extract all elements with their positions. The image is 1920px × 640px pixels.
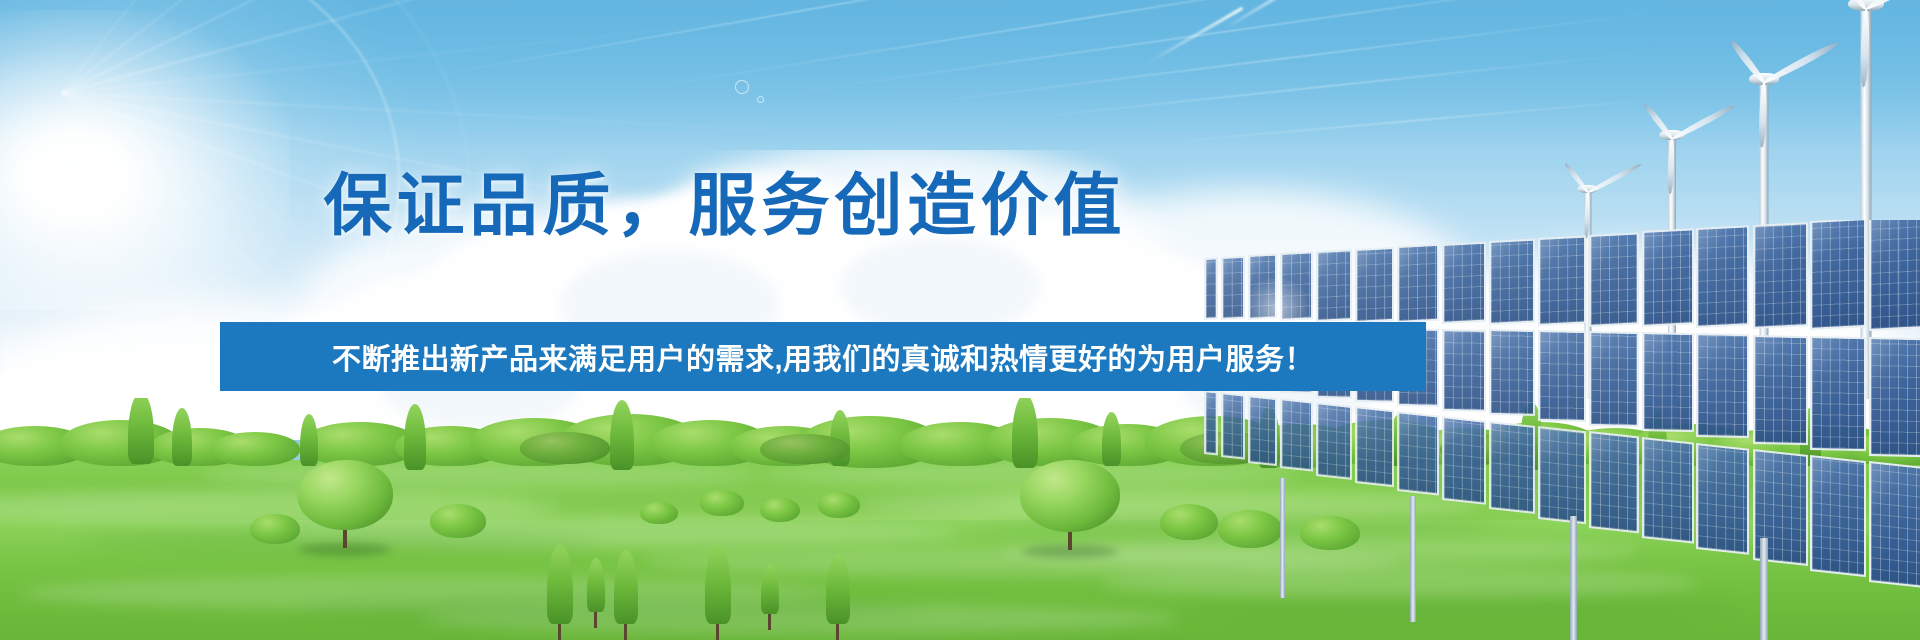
solar-panel <box>1442 329 1486 412</box>
solar-panel <box>1696 333 1749 438</box>
tree-trunk <box>1068 532 1072 550</box>
solar-panel <box>1489 421 1535 514</box>
shrub <box>818 492 860 518</box>
solar-panel <box>1589 431 1639 533</box>
solar-panel <box>1248 395 1277 466</box>
solar-panel <box>1280 398 1313 472</box>
subtitle-bar: 不断推出新产品来满足用户的需求,用我们的真诚和热情更好的为用户服务！ <box>220 322 1426 391</box>
lens-flare-dot-icon <box>735 80 749 94</box>
turbine-blade <box>1642 102 1674 141</box>
solar-panel <box>1489 238 1535 324</box>
cypress-tree <box>300 414 318 466</box>
solar-panel <box>1204 257 1218 320</box>
lens-flare-dot-icon <box>757 96 764 103</box>
solar-panel <box>1355 406 1394 487</box>
cypress-tree <box>610 400 634 470</box>
solar-panel <box>1810 455 1866 577</box>
tree-trunk <box>768 614 771 630</box>
tree-trunk <box>594 612 597 628</box>
solar-panel <box>1397 411 1439 496</box>
solar-panel <box>1589 232 1639 326</box>
shrub <box>250 514 300 544</box>
solar-panel <box>1442 241 1486 324</box>
horizon-bush <box>760 434 850 464</box>
solar-panel <box>1316 249 1352 322</box>
solar-support-leg <box>1410 496 1416 622</box>
solar-panel <box>1696 225 1749 328</box>
solar-support-leg <box>1280 478 1285 598</box>
solar-panel <box>1397 244 1439 323</box>
horizon-bush <box>210 432 300 466</box>
solar-panel <box>1642 437 1694 544</box>
cypress-tree <box>128 398 154 464</box>
cypress-tree <box>1102 412 1121 466</box>
tree-trunk <box>343 530 347 548</box>
solar-panel <box>1442 416 1486 505</box>
shrub <box>640 502 678 524</box>
solar-panel <box>1810 336 1866 451</box>
tree-trunk <box>624 624 627 640</box>
solar-panel <box>1810 220 1866 330</box>
solar-panel <box>1589 331 1639 427</box>
subtitle-text: 不断推出新产品来满足用户的需求,用我们的真诚和热情更好的为用户服务！ <box>332 336 1314 378</box>
solar-support-leg <box>1760 538 1768 640</box>
tree-trunk <box>716 624 719 640</box>
shrub <box>430 504 486 538</box>
solar-support-leg <box>1570 516 1577 640</box>
cypress-tree <box>172 408 192 466</box>
solar-panel <box>1316 402 1352 479</box>
horizon-bush <box>520 432 610 464</box>
solar-panel <box>1642 229 1694 327</box>
solar-panel <box>1538 235 1586 325</box>
shrub <box>700 490 744 516</box>
cloud-puff <box>840 236 1040 336</box>
page-title: 保证品质，服务创造价值 <box>0 172 1450 240</box>
solar-panel <box>1204 390 1218 456</box>
solar-panel <box>1355 247 1394 323</box>
tree-trunk <box>558 624 561 640</box>
cypress-tree <box>404 404 426 470</box>
solar-panel <box>1642 332 1694 432</box>
hero-banner: 保证品质，服务创造价值 不断推出新产品来满足用户的需求,用我们的真诚和热情更好的… <box>0 0 1920 640</box>
solar-panel <box>1869 220 1920 331</box>
solar-panel <box>1538 330 1586 422</box>
tree-canopy <box>297 460 393 530</box>
solar-panel <box>1869 461 1920 588</box>
cypress-tree <box>1012 398 1038 468</box>
solar-panel <box>1753 222 1808 329</box>
shrub <box>760 498 800 522</box>
solar-panel <box>1221 392 1245 460</box>
solar-panel-array <box>1160 220 1920 640</box>
turbine-blade <box>1729 39 1767 85</box>
solar-panel <box>1753 335 1808 445</box>
tree-trunk <box>836 624 839 640</box>
tree-canopy <box>1020 460 1120 532</box>
solar-panel <box>1696 443 1749 555</box>
solar-panel <box>1489 329 1535 416</box>
solar-panel <box>1538 426 1586 524</box>
solar-panel <box>1869 337 1920 457</box>
